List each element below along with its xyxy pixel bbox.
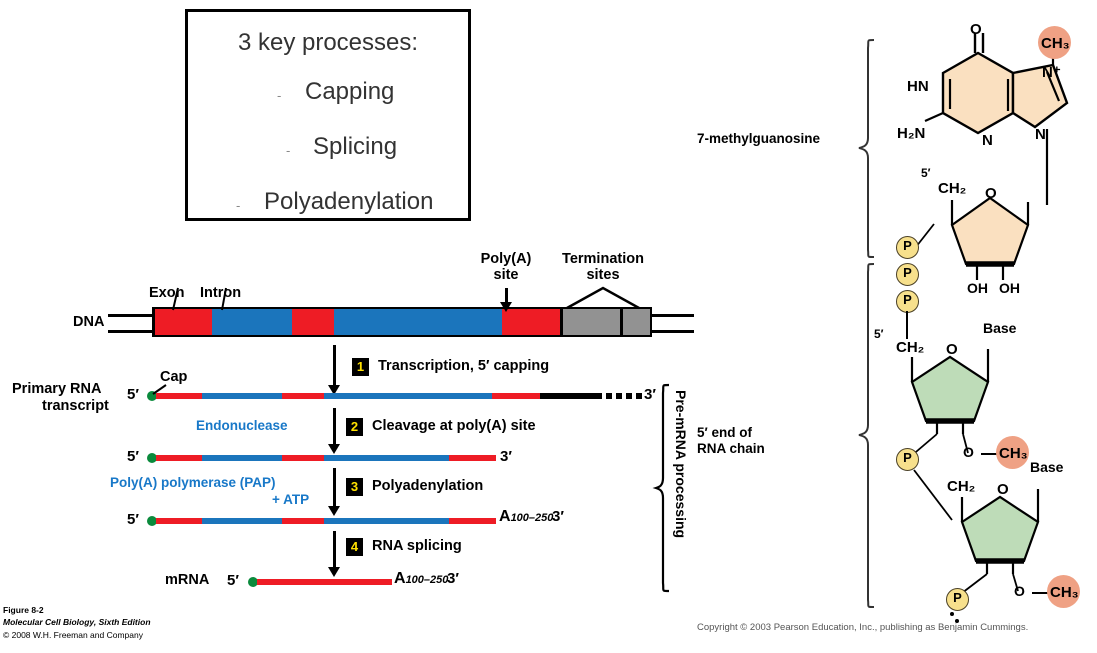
dna-downstream-1	[562, 307, 622, 337]
termination-chevron-icon	[565, 286, 641, 310]
primary-transcript-strand	[156, 393, 596, 399]
atom-hn: HN	[907, 78, 929, 95]
cleaved-exon-3	[449, 455, 496, 461]
sugar-ring-2	[940, 475, 1097, 585]
step-3-badge: 3	[346, 478, 363, 496]
atom-ch2-cap: CH₂	[938, 180, 966, 197]
bullet-dash-polyadenylation: -	[236, 198, 240, 213]
pre-mrna-brace	[655, 383, 673, 593]
chain-5prime-label: 5′	[874, 327, 884, 341]
sugar-ring-1	[890, 335, 1060, 445]
transcript-downstream	[540, 393, 602, 399]
cleaved-5prime-label: 5′	[127, 448, 139, 465]
cap-5prime-label: 5′	[921, 166, 931, 180]
key-process-splicing: Splicing	[313, 133, 397, 161]
phosphate-circle-2: P	[896, 263, 919, 286]
dna-divider-polya	[560, 307, 563, 337]
caption-book-title: Molecular Cell Biology, Sixth Edition	[3, 616, 151, 628]
transcript-intron-1	[202, 393, 282, 399]
step-1-arrow-shaft	[333, 345, 336, 387]
key-process-polyadenylation: Polyadenylation	[264, 188, 433, 216]
mrna-3prime-label: 3′	[447, 570, 459, 587]
rna-chain-label-2: RNA chain	[697, 441, 765, 457]
step-3-arrow-head	[328, 506, 340, 516]
polya-site-arrow-head	[500, 302, 512, 312]
dna-flank-right-top	[648, 314, 694, 317]
mrna-label: mRNA	[165, 573, 209, 588]
cleaved-intron-1	[202, 455, 282, 461]
rna-chain-label-1: 5′ end of	[697, 425, 752, 441]
atom-n7-plus: N⁺	[1042, 63, 1061, 81]
pearson-copyright: Copyright © 2003 Pearson Education, Inc.…	[697, 622, 1028, 633]
transcript-intron-2	[324, 393, 492, 399]
polyA-tail-label: A100–250	[499, 508, 553, 526]
step-3-enzyme-atp: + ATP	[272, 492, 309, 507]
atom-o-carbonyl: O	[970, 21, 982, 38]
polyA-intron-1	[202, 518, 282, 524]
step-2-arrow-shaft	[333, 408, 336, 446]
step-3-enzyme: Poly(A) polymerase (PAP)	[110, 475, 276, 490]
polyA-exon-2	[282, 518, 324, 524]
atom-o-methoxy-1: O	[963, 444, 974, 460]
atom-n3: N	[982, 132, 993, 149]
step-2-arrow-head	[328, 444, 340, 454]
mrna-polyA-label: A100–250	[394, 570, 448, 588]
atom-o-ring-cap: O	[985, 185, 997, 202]
step-3-text: Polyadenylation	[372, 478, 483, 494]
key-processes-box: 3 key processes: - Capping - Splicing - …	[185, 9, 471, 221]
transcript-exon-1	[156, 393, 202, 399]
polya-site-label-1: Poly(A)	[474, 252, 538, 267]
dna-divider-termination	[620, 307, 623, 337]
primary-transcript-label-2: transcript	[42, 399, 109, 414]
phosphate-circle-1: P	[896, 236, 919, 259]
dna-flank-right-bottom	[648, 330, 694, 333]
bullet-dash-splicing: -	[286, 143, 290, 158]
atom-oh-left: OH	[967, 280, 988, 296]
atom-n9: N	[1035, 126, 1046, 143]
transcript-exon-3	[492, 393, 540, 399]
step-4-text: RNA splicing	[372, 538, 462, 554]
dna-flank-left-top	[108, 314, 154, 317]
polyA-3prime-label: 3′	[552, 508, 564, 525]
base-label-2: Base	[1030, 459, 1063, 475]
polyA-exon-3	[449, 518, 496, 524]
methoxy-bond-1	[981, 453, 997, 455]
mrna-5prime-label: 5′	[227, 572, 239, 589]
rna-chain-brace	[858, 262, 876, 610]
atom-h2n: H₂N	[897, 125, 925, 142]
atom-o-methoxy-2: O	[1014, 583, 1025, 599]
polyA-exon-1	[156, 518, 202, 524]
polyA-rna-strand	[156, 518, 496, 524]
dna-intron-2	[334, 307, 502, 337]
termination-label-2: sites	[547, 268, 659, 283]
polya-site-label-2: site	[474, 268, 538, 283]
atom-ch3-cap: CH₃	[1041, 35, 1070, 52]
dna-label: DNA	[73, 315, 104, 330]
key-processes-title: 3 key processes:	[188, 29, 468, 57]
termination-label-1: Termination	[547, 252, 659, 267]
primary-transcript-label-1: Primary RNA	[12, 382, 101, 397]
step-2-enzyme: Endonuclease	[196, 418, 288, 433]
dna-edge-right	[650, 307, 653, 337]
bullet-dash-capping: -	[277, 88, 281, 103]
step-1-text: Transcription, 5′ capping	[378, 358, 549, 374]
cleaved-3prime-label: 3′	[500, 448, 512, 465]
dna-flank-left-bottom	[108, 330, 154, 333]
pre-mrna-processing-label: Pre-mRNA processing	[673, 390, 689, 538]
caption-figure-number: Figure 8-2	[3, 604, 151, 616]
exon-label: Exon	[149, 286, 184, 301]
transcript-5prime-label: 5′	[127, 386, 139, 403]
step-2-badge: 2	[346, 418, 363, 436]
dna-exon-2	[292, 307, 334, 337]
cleaved-intron-2	[324, 455, 449, 461]
figure-caption: Figure 8-2 Molecular Cell Biology, Sixth…	[3, 604, 151, 641]
cleaved-exon-2	[282, 455, 324, 461]
step-4-badge: 4	[346, 538, 363, 556]
intron-label: Intron	[200, 286, 241, 301]
step-2-text: Cleavage at poly(A) site	[372, 418, 536, 434]
phosphate-circle-end: P	[946, 588, 969, 611]
caption-credit: © 2008 W.H. Freeman and Company	[3, 629, 151, 641]
methylguanosine-brace	[858, 38, 876, 260]
polyA-5prime-label: 5′	[127, 511, 139, 528]
dna-downstream-2	[622, 307, 652, 337]
base-label-1: Base	[983, 320, 1016, 336]
phosphate-circle-3: P	[896, 290, 919, 313]
transcript-exon-2	[282, 393, 324, 399]
step-4-arrow-shaft	[333, 531, 336, 569]
atom-ch3-2: CH₃	[1050, 584, 1079, 601]
cleaved-rna-strand	[156, 455, 496, 461]
key-process-capping: Capping	[305, 78, 394, 106]
step-4-arrow-head	[328, 567, 340, 577]
methylguanosine-label: 7-methylguanosine	[697, 131, 820, 147]
cap-label: Cap	[160, 370, 187, 385]
step-3-arrow-shaft	[333, 468, 336, 508]
cleaved-exon-1	[156, 455, 202, 461]
mrna-strand	[257, 579, 392, 585]
atom-ch3-1: CH₃	[999, 445, 1028, 462]
methoxy-bond-2	[1032, 592, 1048, 594]
polyA-intron-2	[324, 518, 449, 524]
step-1-badge: 1	[352, 358, 369, 376]
atom-oh-right: OH	[999, 280, 1020, 296]
